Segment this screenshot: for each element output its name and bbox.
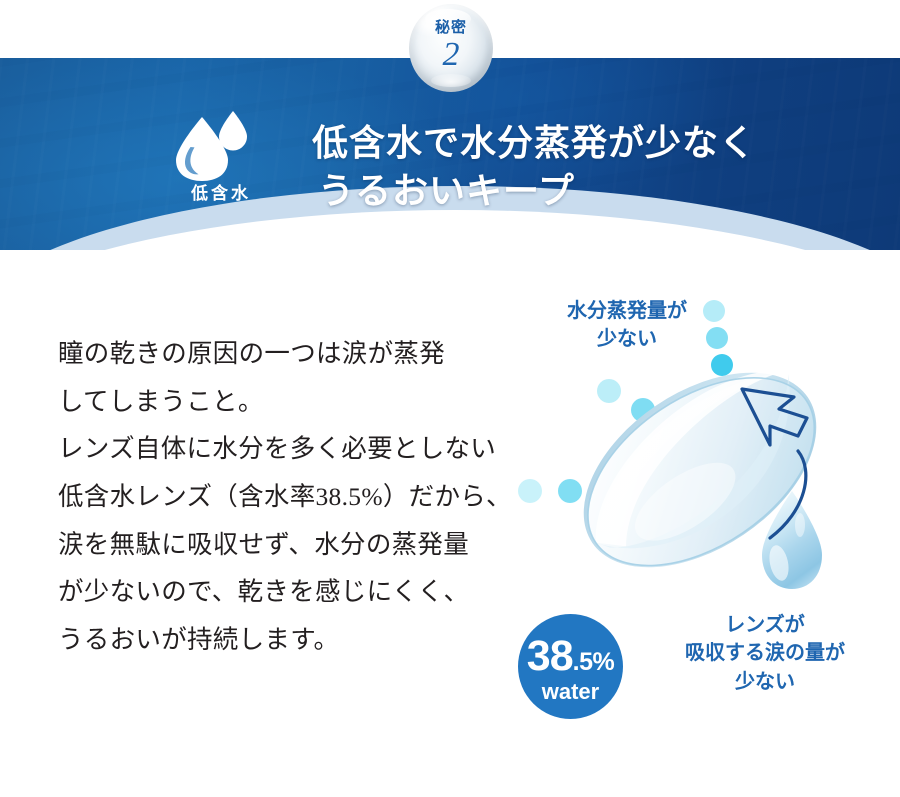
label-evaporation: 水分蒸発量が 少ない [537,297,717,354]
label-absorption: レンズが 吸収する涙の量が 少ない [640,611,890,696]
body-line: 涙を無駄に吸収せず、水分の蒸発量 [58,521,528,569]
lens-illustration: 水分蒸発量が 少ない レンズが 吸収する涙の量が 少ない 38.5% water [500,275,900,715]
secret-badge-number: 2 [409,38,493,72]
header-title-line-1: 低含水で水分蒸発が少なく [312,120,756,168]
water-badge-value-small: .5% [573,648,615,676]
secret-badge-label: 秘密 [409,21,493,36]
secret-badge-bubble: 秘密 2 [409,4,493,92]
body-line: 低含水レンズ（含水率38.5%）だから、 [58,473,528,521]
header-title: 低含水で水分蒸発が少なく うるおいキープ [312,120,756,215]
body-paragraph: 瞳の乾きの原因の一つは涙が蒸発 してしまうこと。 レンズ自体に水分を多く必要とし… [58,330,528,664]
header-icon-group: 低含水 [163,103,279,204]
bubble-highlight-bottom [431,74,471,87]
header-title-line-2: うるおいキープ [312,168,756,216]
header-icon-caption: 低含水 [163,179,279,204]
page-root: 秘密 2 低含水 低含水で水分蒸発が少なく うるおいキープ 瞳の乾きの原因の一つ… [0,0,900,797]
label-evaporation-line-2: 少ない [537,325,717,353]
body-line: うるおいが持続します。 [58,616,528,664]
water-drop-icon-svg [163,103,279,181]
body-line: してしまうこと。 [58,378,528,426]
water-content-badge: 38.5% water [518,614,623,719]
label-absorption-line-1: レンズが [640,611,890,639]
body-line: 瞳の乾きの原因の一つは涙が蒸発 [58,330,528,378]
label-absorption-line-2: 吸収する涙の量が [640,639,890,667]
water-drop-icon [163,103,279,181]
label-absorption-line-3: 少ない [640,668,890,696]
body-line: が少ないので、乾きを感じにくく、 [58,568,528,616]
water-badge-value-row: 38.5% [518,635,623,678]
water-badge-unit: water [518,681,623,703]
water-badge-value-big: 38 [527,632,573,680]
label-evaporation-line-1: 水分蒸発量が [537,297,717,325]
body-line: レンズ自体に水分を多く必要としない [58,425,528,473]
